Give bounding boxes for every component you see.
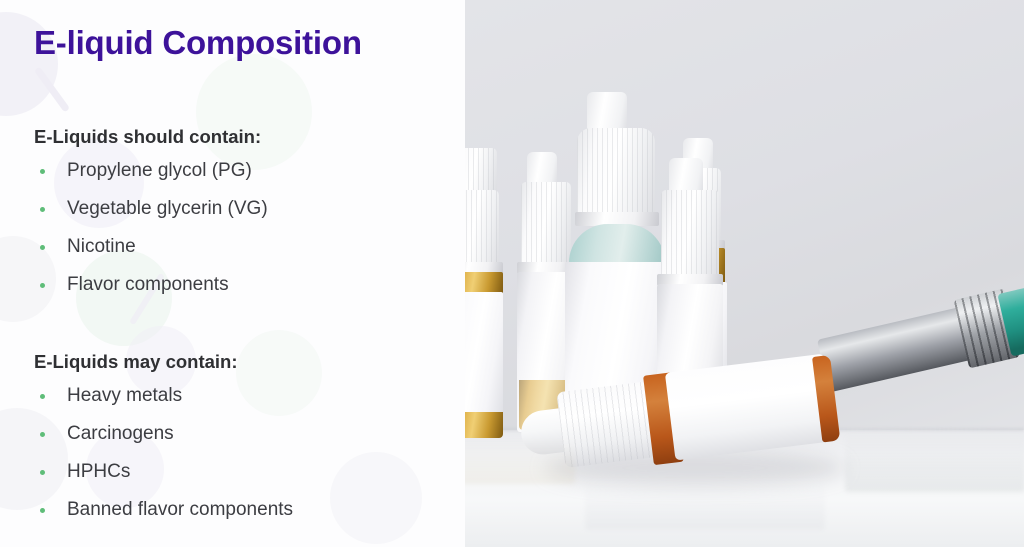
bullet-dot-icon <box>40 432 45 437</box>
surface-reflection <box>845 432 1024 492</box>
list-item: Carcinogens <box>34 415 454 453</box>
list-item: Heavy metals <box>34 377 454 415</box>
list-item-label: Heavy metals <box>67 385 182 406</box>
list-item-label: Carcinogens <box>67 423 174 444</box>
bottle-body <box>665 354 835 461</box>
list-group-may-contain: E-Liquids may contain: Heavy metals Carc… <box>34 351 454 529</box>
bullet-dot-icon <box>40 245 45 250</box>
list-item-label: Vegetable glycerin (VG) <box>67 198 268 219</box>
product-photo <box>465 0 1024 547</box>
list-item: Vegetable glycerin (VG) <box>34 190 454 228</box>
bullet-dot-icon <box>40 207 45 212</box>
list-item-label: Nicotine <box>67 236 136 257</box>
group-heading: E-Liquids should contain: <box>34 126 454 148</box>
bullet-dot-icon <box>40 394 45 399</box>
list-group-should-contain: E-Liquids should contain: Propylene glyc… <box>34 126 454 304</box>
bullet-list: Heavy metals Carcinogens HPHCs Banned fl… <box>34 377 454 529</box>
text-panel: E-liquid Composition E-Liquids should co… <box>0 0 465 547</box>
list-item: Nicotine <box>34 228 454 266</box>
page-title: E-liquid Composition <box>34 24 362 62</box>
list-item-label: Banned flavor components <box>67 499 293 520</box>
bullet-dot-icon <box>40 283 45 288</box>
surface-reflection <box>465 438 575 484</box>
list-item-label: Flavor components <box>67 274 229 295</box>
surface-reflection <box>585 478 825 530</box>
list-item: Propylene glycol (PG) <box>34 152 454 190</box>
bullet-dot-icon <box>40 508 45 513</box>
bullet-list: Propylene glycol (PG) Vegetable glycerin… <box>34 152 454 304</box>
bullet-dot-icon <box>40 470 45 475</box>
slide: E-liquid Composition E-Liquids should co… <box>0 0 1024 547</box>
list-item: Flavor components <box>34 266 454 304</box>
list-item: HPHCs <box>34 453 454 491</box>
list-item-label: HPHCs <box>67 461 130 482</box>
decorative-connector <box>34 66 70 112</box>
group-heading: E-Liquids may contain: <box>34 351 454 373</box>
photo-scene <box>465 0 1024 547</box>
bullet-dot-icon <box>40 169 45 174</box>
list-item-label: Propylene glycol (PG) <box>67 160 252 181</box>
list-item: Banned flavor components <box>34 491 454 529</box>
